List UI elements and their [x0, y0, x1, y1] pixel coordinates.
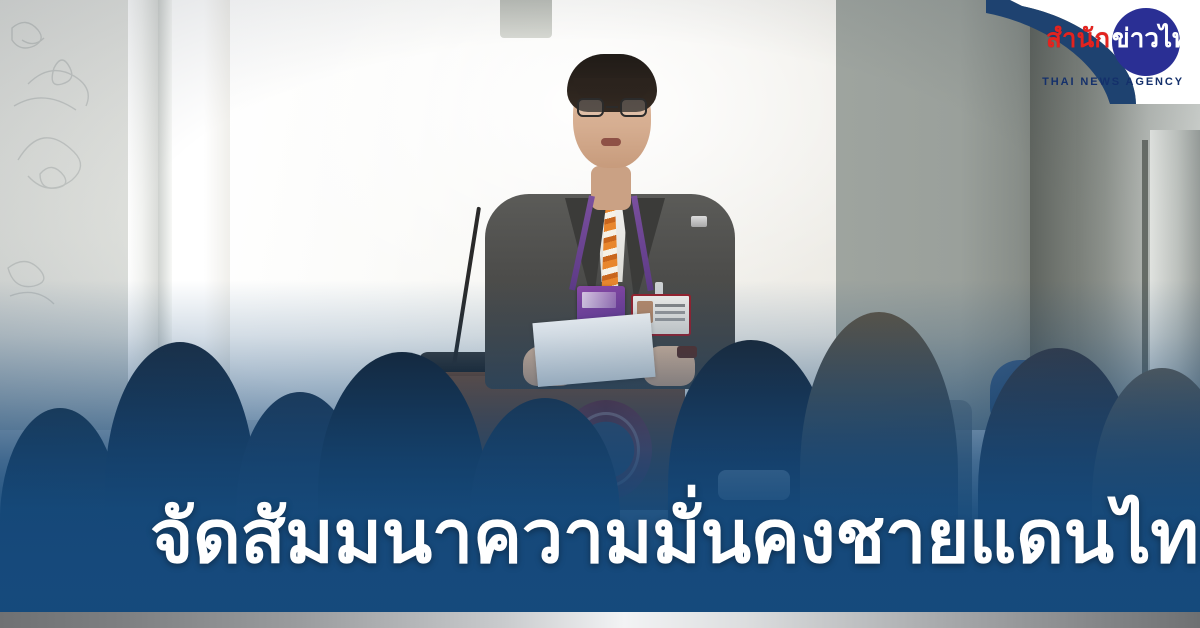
lapel-pin — [691, 216, 707, 227]
news-thumbnail-card: จัดสัมมนาความมั่นคงชายแดนไทย สำนัก ข่าวไ… — [0, 0, 1200, 628]
ceiling-vent — [500, 0, 552, 38]
wall-ornament-icon — [4, 10, 124, 340]
audience-member — [0, 408, 120, 628]
bottom-silver-bar — [0, 612, 1200, 628]
neck — [591, 166, 631, 210]
audience-member — [800, 312, 958, 628]
speaker-figure — [485, 46, 735, 376]
speech-paper — [532, 313, 655, 387]
eyeglasses-icon — [577, 98, 647, 118]
mouth — [601, 138, 621, 146]
audience-member — [318, 352, 486, 628]
wristwatch — [677, 346, 697, 358]
headline-text: จัดสัมมนาความมั่นคงชายแดนไทย — [150, 494, 1060, 580]
audience-member — [105, 342, 255, 628]
